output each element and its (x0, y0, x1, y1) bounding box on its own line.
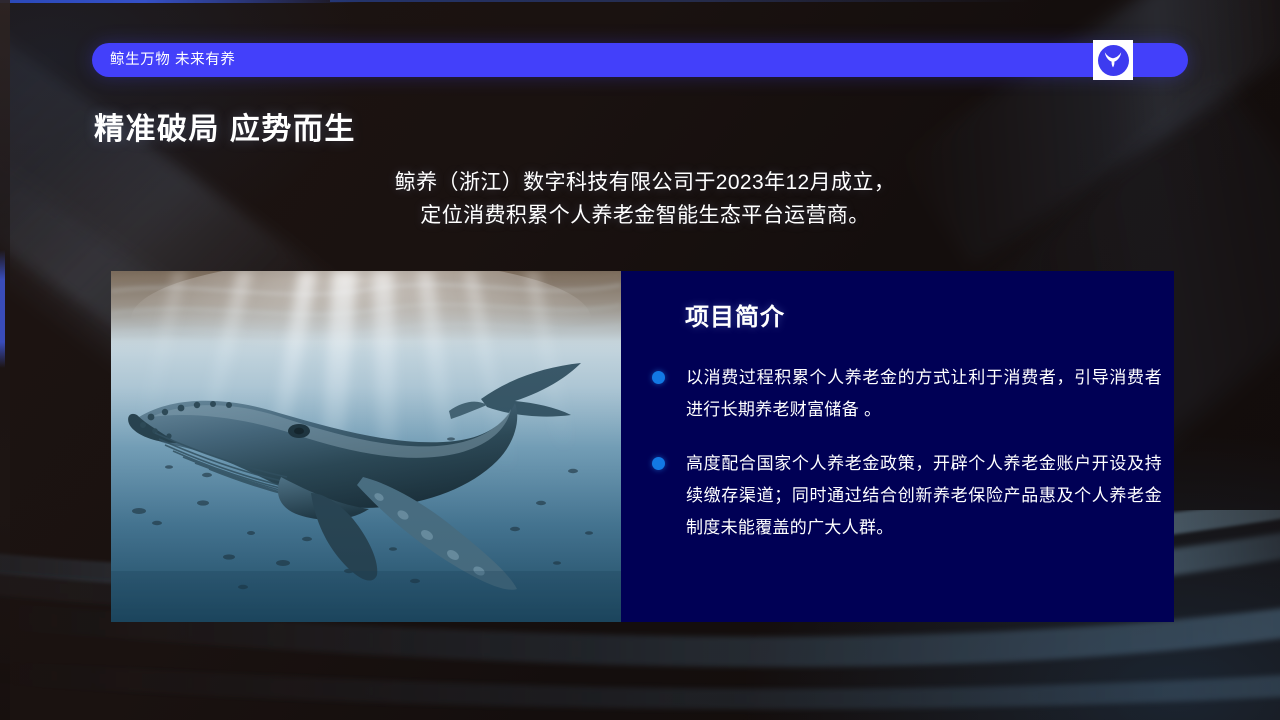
whale-tail-logo-icon (1098, 45, 1129, 76)
whale-tail-glyph-icon (1102, 50, 1124, 70)
bullet-text: 高度配合国家个人养老金政策，开辟个人养老金账户开设及持续缴存渠道；同时通过结合创… (686, 448, 1162, 544)
panel-heading: 项目简介 (685, 297, 785, 332)
background-top-accent-line (0, 0, 360, 3)
list-item: 以消费过程积累个人养老金的方式让利于消费者，引导消费者进行长期养老财富储备 。 (652, 362, 1162, 426)
background-top-accent-line-secondary (330, 0, 1030, 2)
list-item: 高度配合国家个人养老金政策，开辟个人养老金账户开设及持续缴存渠道；同时通过结合创… (652, 448, 1162, 544)
page-subtitle: 鲸养（浙江）数字科技有限公司于2023年12月成立， 定位消费积累个人养老金智能… (240, 166, 1050, 232)
header-banner-pill (92, 43, 1188, 77)
header-banner-text: 鲸生万物 未来有养 (110, 50, 235, 70)
subtitle-line-2: 定位消费积累个人养老金智能生态平台运营商。 (240, 199, 1050, 232)
background-left-accent-bar (0, 250, 5, 368)
panel-bullet-list: 以消费过程积累个人养老金的方式让利于消费者，引导消费者进行长期养老财富储备 。 … (652, 362, 1162, 566)
bullet-dot-icon (652, 457, 665, 470)
whale-photo-illustration (111, 271, 621, 622)
whale-underwater-photo (111, 271, 621, 622)
subtitle-line-1: 鲸养（浙江）数字科技有限公司于2023年12月成立， (240, 166, 1050, 199)
presentation-slide: 鲸生万物 未来有养 精准破局 应势而生 鲸养（浙江）数字科技有限公司于2023年… (0, 0, 1280, 720)
bullet-text: 以消费过程积累个人养老金的方式让利于消费者，引导消费者进行长期养老财富储备 。 (686, 362, 1162, 426)
bullet-dot-icon (652, 371, 665, 384)
page-title: 精准破局 应势而生 (94, 104, 356, 148)
brand-logo (1093, 40, 1133, 80)
